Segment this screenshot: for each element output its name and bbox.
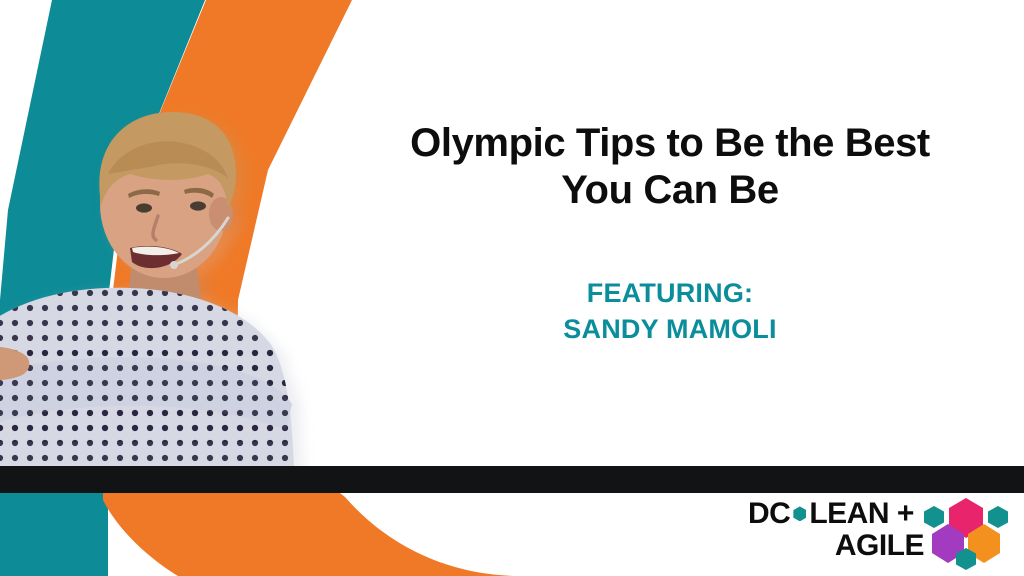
logo-text-lean-plus: LEAN +: [809, 498, 914, 530]
hexagon-dot-icon: [793, 506, 806, 521]
speaker-eye-left: [136, 203, 152, 212]
featuring-label: FEATURING:: [340, 276, 1000, 312]
headset-mic-tip: [170, 261, 178, 269]
logo-hexagon-cluster: [920, 496, 1012, 574]
hex-top-right-small-icon: [988, 506, 1008, 528]
logo-text-agile: AGILE: [748, 530, 926, 562]
hex-top-left-small-icon: [924, 506, 944, 528]
speaker-figure: [0, 112, 360, 478]
slide-text-block: Olympic Tips to Be the Best You Can Be F…: [340, 120, 1000, 348]
title-line-2: You Can Be: [561, 168, 779, 212]
speaker-eye-right: [190, 201, 206, 210]
speaker-photo: [0, 78, 360, 478]
page-title: Olympic Tips to Be the Best You Can Be: [340, 120, 1000, 214]
presentation-slide: Olympic Tips to Be the Best You Can Be F…: [0, 0, 1024, 576]
dc-lean-agile-logo[interactable]: DC LEAN + AGILE: [748, 498, 1010, 572]
logo-line-1: DC LEAN +: [748, 498, 926, 530]
title-line-1: Olympic Tips to Be the Best: [410, 121, 930, 165]
logo-text-dc: DC: [748, 498, 790, 530]
speaker-name: SANDY MAMOLI: [340, 312, 1000, 348]
speaker-arms-pattern: [0, 350, 360, 442]
featuring-block: FEATURING: SANDY MAMOLI: [340, 276, 1000, 348]
logo-wordmark: DC LEAN + AGILE: [748, 498, 926, 562]
teal-bottom-block-shape: [0, 493, 108, 576]
black-divider-bar: [0, 466, 1024, 493]
